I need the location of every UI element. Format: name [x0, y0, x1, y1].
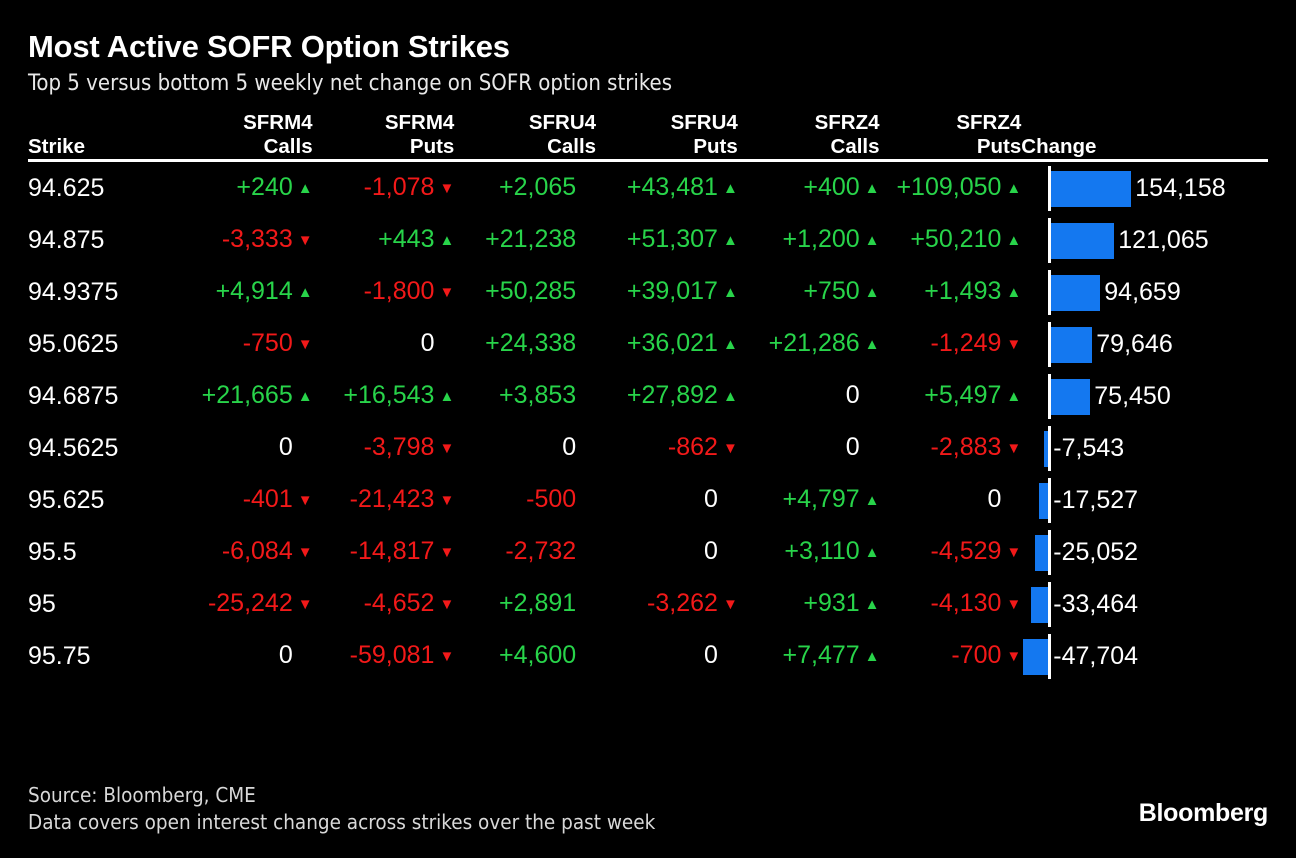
- column-header-line1: SFRZ4: [880, 111, 1022, 135]
- cell-sfru4-puts: 0▲: [596, 474, 738, 526]
- arrow-down-icon: ▼: [298, 579, 313, 630]
- cell-value: -2,732: [505, 537, 576, 565]
- cell-sfrm4-calls: 0▲: [171, 630, 313, 682]
- strike-value: 94.6875: [28, 370, 171, 422]
- cell-sfrz4-puts: +109,050▲: [880, 161, 1022, 215]
- arrow-up-icon: ▲: [865, 319, 880, 370]
- table-row: 95-25,242▼-4,652▼+2,891▲-3,262▼+931▲-4,1…: [28, 578, 1268, 630]
- cell-sfru4-puts: +36,021▲: [596, 318, 738, 370]
- cell-value: +240: [236, 173, 292, 201]
- cell-sfrz4-puts: -4,130▼: [880, 578, 1022, 630]
- cell-sfru4-calls: -500▲: [454, 474, 596, 526]
- arrow-down-icon: ▼: [439, 527, 454, 578]
- column-header-line1: SFRU4: [596, 111, 738, 135]
- cell-value: 0: [846, 381, 860, 409]
- cell-value: 0: [704, 641, 718, 669]
- column-header-line1: SFRM4: [171, 111, 313, 135]
- change-bar-cell: 94,659: [1021, 266, 1268, 318]
- cell-sfrm4-puts: -1,078▼: [313, 161, 455, 215]
- arrow-up-icon: ▲: [723, 319, 738, 370]
- arrow-up-icon: ▲: [865, 267, 880, 318]
- cell-value: -750: [243, 329, 293, 357]
- arrow-down-icon: ▼: [298, 475, 313, 526]
- cell-sfru4-calls: +2,891▲: [454, 578, 596, 630]
- cell-sfrm4-puts: +443▲: [313, 214, 455, 266]
- cell-value: 0: [704, 537, 718, 565]
- change-bar-cell: 75,450: [1021, 370, 1268, 422]
- table-header-row: StrikeSFRM4CallsSFRM4PutsSFRU4CallsSFRU4…: [28, 111, 1268, 159]
- arrow-down-icon: ▼: [439, 163, 454, 214]
- change-bar: [1044, 431, 1048, 467]
- cell-value: -700: [951, 641, 1001, 669]
- cell-value: -1,800: [364, 277, 435, 305]
- cell-sfrz4-puts: -1,249▼: [880, 318, 1022, 370]
- cell-sfrm4-calls: +21,665▲: [171, 370, 313, 422]
- change-bar: [1035, 535, 1048, 571]
- cell-sfrm4-calls: -3,333▼: [171, 214, 313, 266]
- change-value-label: -33,464: [1053, 579, 1138, 630]
- cell-value: -25,242: [208, 589, 293, 617]
- cell-value: -59,081: [350, 641, 435, 669]
- table-row: 94.6875+21,665▲+16,543▲+3,853▲+27,892▲0▲…: [28, 370, 1268, 422]
- cell-value: +443: [378, 225, 434, 253]
- strikes-table: StrikeSFRM4CallsSFRM4PutsSFRU4CallsSFRU4…: [28, 111, 1268, 682]
- cell-sfrm4-puts: 0▲: [313, 318, 455, 370]
- cell-sfru4-puts: +39,017▲: [596, 266, 738, 318]
- arrow-up-icon: ▲: [1006, 371, 1021, 422]
- table-header: StrikeSFRM4CallsSFRM4PutsSFRU4CallsSFRU4…: [28, 111, 1268, 161]
- change-bar-cell: -25,052: [1021, 526, 1268, 578]
- cell-value: -1,249: [931, 329, 1002, 357]
- cell-value: +43,481: [627, 173, 718, 201]
- arrow-down-icon: ▼: [723, 423, 738, 474]
- change-bar: [1051, 327, 1092, 363]
- arrow-down-icon: ▼: [439, 631, 454, 682]
- column-header-sfrm4-puts: SFRM4Puts: [313, 111, 455, 159]
- strike-value: 95.75: [28, 630, 171, 682]
- cell-value: -3,262: [647, 589, 718, 617]
- column-header-line2: Puts: [313, 135, 455, 159]
- cell-value: +50,285: [485, 277, 576, 305]
- table-row: 94.875-3,333▼+443▲+21,238▲+51,307▲+1,200…: [28, 214, 1268, 266]
- cell-value: +21,286: [769, 329, 860, 357]
- cell-sfru4-calls: +4,600▲: [454, 630, 596, 682]
- cell-sfrz4-calls: +4,797▲: [738, 474, 880, 526]
- header-block: Most Active SOFR Option Strikes Top 5 ve…: [0, 0, 1296, 97]
- column-header-line1: SFRZ4: [738, 111, 880, 135]
- change-value-label: 79,646: [1096, 319, 1172, 370]
- arrow-up-icon: ▲: [439, 371, 454, 422]
- column-header-sfrz4-calls: SFRZ4Calls: [738, 111, 880, 159]
- cell-sfrz4-puts: +5,497▲: [880, 370, 1022, 422]
- arrow-up-icon: ▲: [1006, 163, 1021, 214]
- change-value-label: -17,527: [1053, 475, 1138, 526]
- cell-value: +21,665: [202, 381, 293, 409]
- cell-value: -3,798: [364, 433, 435, 461]
- bar-wrapper: 75,450: [1021, 371, 1268, 422]
- cell-value: +51,307: [627, 225, 718, 253]
- change-value-label: 154,158: [1135, 163, 1225, 214]
- cell-value: -1,078: [364, 173, 435, 201]
- cell-value: 0: [846, 433, 860, 461]
- bar-wrapper: 94,659: [1021, 267, 1268, 318]
- change-bar: [1039, 483, 1048, 519]
- note-line: Data covers open interest change across …: [28, 809, 655, 836]
- cell-value: +1,493: [924, 277, 1001, 305]
- change-value-label: 121,065: [1118, 215, 1208, 266]
- cell-sfrz4-calls: +7,477▲: [738, 630, 880, 682]
- column-header-line2: Puts: [880, 135, 1022, 159]
- cell-sfrz4-puts: 0▲: [880, 474, 1022, 526]
- cell-sfru4-calls: +24,338▲: [454, 318, 596, 370]
- column-header-line2: Calls: [171, 135, 313, 159]
- change-bar: [1051, 275, 1100, 311]
- change-bar-cell: -17,527: [1021, 474, 1268, 526]
- cell-value: +24,338: [485, 329, 576, 357]
- arrow-up-icon: ▲: [865, 579, 880, 630]
- change-value-label: -25,052: [1053, 527, 1138, 578]
- zero-axis-line: [1048, 530, 1051, 575]
- cell-value: +3,110: [784, 537, 859, 565]
- cell-value: +750: [803, 277, 859, 305]
- change-bar-cell: 121,065: [1021, 214, 1268, 266]
- arrow-down-icon: ▼: [1006, 631, 1021, 682]
- change-bar-cell: -33,464: [1021, 578, 1268, 630]
- cell-sfru4-puts: -862▼: [596, 422, 738, 474]
- cell-sfrm4-puts: -3,798▼: [313, 422, 455, 474]
- column-header-line1: [28, 111, 171, 135]
- cell-sfrz4-puts: +1,493▲: [880, 266, 1022, 318]
- cell-sfrm4-calls: +240▲: [171, 161, 313, 215]
- change-value-label: -7,543: [1053, 423, 1124, 474]
- column-header-line2: Change: [1021, 135, 1268, 159]
- strike-value: 95.5: [28, 526, 171, 578]
- cell-value: -21,423: [350, 485, 435, 513]
- strike-value: 94.625: [28, 161, 171, 215]
- cell-sfrz4-calls: +3,110▲: [738, 526, 880, 578]
- cell-sfrz4-puts: -4,529▼: [880, 526, 1022, 578]
- cell-value: +3,853: [499, 381, 576, 409]
- column-header-line2: Strike: [28, 135, 171, 159]
- cell-sfrm4-calls: -401▼: [171, 474, 313, 526]
- arrow-down-icon: ▼: [1006, 423, 1021, 474]
- cell-value: +5,497: [924, 381, 1001, 409]
- arrow-up-icon: ▲: [865, 475, 880, 526]
- strike-value: 95.0625: [28, 318, 171, 370]
- bar-wrapper: 154,158: [1021, 163, 1268, 214]
- arrow-down-icon: ▼: [298, 215, 313, 266]
- cell-value: +2,065: [499, 173, 576, 201]
- strike-value: 95.625: [28, 474, 171, 526]
- source-line: Source: Bloomberg, CME: [28, 782, 655, 809]
- cell-sfru4-calls: 0▲: [454, 422, 596, 474]
- arrow-up-icon: ▲: [1006, 215, 1021, 266]
- cell-value: -6,084: [222, 537, 293, 565]
- cell-sfru4-calls: +2,065▲: [454, 161, 596, 215]
- cell-sfru4-calls: +50,285▲: [454, 266, 596, 318]
- cell-sfru4-calls: -2,732▲: [454, 526, 596, 578]
- arrow-up-icon: ▲: [723, 267, 738, 318]
- cell-sfru4-puts: +43,481▲: [596, 161, 738, 215]
- cell-value: -4,130: [931, 589, 1002, 617]
- arrow-down-icon: ▼: [1006, 527, 1021, 578]
- cell-value: 0: [279, 433, 293, 461]
- cell-value: +1,200: [783, 225, 860, 253]
- cell-value: 0: [704, 485, 718, 513]
- change-value-label: 75,450: [1094, 371, 1170, 422]
- arrow-down-icon: ▼: [1006, 579, 1021, 630]
- arrow-up-icon: ▲: [865, 631, 880, 682]
- cell-sfrm4-puts: -59,081▼: [313, 630, 455, 682]
- change-bar-cell: 79,646: [1021, 318, 1268, 370]
- bar-wrapper: 121,065: [1021, 215, 1268, 266]
- cell-value: 0: [988, 485, 1002, 513]
- arrow-up-icon: ▲: [865, 215, 880, 266]
- cell-value: -4,529: [931, 537, 1002, 565]
- arrow-up-icon: ▲: [439, 215, 454, 266]
- bar-wrapper: -47,704: [1021, 631, 1268, 682]
- zero-axis-line: [1048, 426, 1051, 471]
- bar-wrapper: 79,646: [1021, 319, 1268, 370]
- column-header-strike: Strike: [28, 111, 171, 159]
- bloomberg-logo: Bloomberg: [1139, 799, 1268, 828]
- table-row: 95.0625-750▼0▲+24,338▲+36,021▲+21,286▲-1…: [28, 318, 1268, 370]
- cell-sfru4-calls: +21,238▲: [454, 214, 596, 266]
- page-title: Most Active SOFR Option Strikes: [28, 30, 1296, 65]
- column-header-line1: SFRU4: [454, 111, 596, 135]
- column-header-change: Change: [1021, 111, 1268, 159]
- column-header-line2: Calls: [738, 135, 880, 159]
- change-bar: [1051, 171, 1131, 207]
- arrow-up-icon: ▲: [1006, 267, 1021, 318]
- cell-sfru4-calls: +3,853▲: [454, 370, 596, 422]
- cell-value: -500: [526, 485, 576, 513]
- cell-value: +109,050: [896, 173, 1001, 201]
- cell-sfrz4-calls: 0▲: [738, 422, 880, 474]
- cell-sfrz4-calls: +21,286▲: [738, 318, 880, 370]
- arrow-down-icon: ▼: [1006, 319, 1021, 370]
- change-value-label: -47,704: [1053, 631, 1138, 682]
- table-body: 94.625+240▲-1,078▼+2,065▲+43,481▲+400▲+1…: [28, 161, 1268, 683]
- cell-value: +50,210: [910, 225, 1001, 253]
- strike-value: 95: [28, 578, 171, 630]
- table-row: 95.625-401▼-21,423▼-500▲0▲+4,797▲0▲-17,5…: [28, 474, 1268, 526]
- cell-sfrm4-calls: +4,914▲: [171, 266, 313, 318]
- cell-sfrz4-calls: +400▲: [738, 161, 880, 215]
- cell-sfrz4-puts: +50,210▲: [880, 214, 1022, 266]
- cell-sfrm4-calls: -750▼: [171, 318, 313, 370]
- zero-axis-line: [1048, 582, 1051, 627]
- arrow-up-icon: ▲: [865, 527, 880, 578]
- change-bar-cell: -47,704: [1021, 630, 1268, 682]
- cell-value: +931: [803, 589, 859, 617]
- change-bar-cell: 154,158: [1021, 161, 1268, 215]
- strike-value: 94.5625: [28, 422, 171, 474]
- cell-sfrm4-calls: -6,084▼: [171, 526, 313, 578]
- cell-sfrm4-calls: -25,242▼: [171, 578, 313, 630]
- cell-value: -2,883: [931, 433, 1002, 461]
- bar-wrapper: -17,527: [1021, 475, 1268, 526]
- cell-value: +21,238: [485, 225, 576, 253]
- strike-value: 94.9375: [28, 266, 171, 318]
- arrow-down-icon: ▼: [439, 579, 454, 630]
- arrow-up-icon: ▲: [298, 371, 313, 422]
- arrow-up-icon: ▲: [723, 163, 738, 214]
- cell-value: +16,543: [343, 381, 434, 409]
- cell-value: +39,017: [627, 277, 718, 305]
- cell-sfru4-puts: -3,262▼: [596, 578, 738, 630]
- change-bar: [1031, 587, 1048, 623]
- table-row: 94.56250▲-3,798▼0▲-862▼0▲-2,883▼-7,543: [28, 422, 1268, 474]
- arrow-down-icon: ▼: [298, 319, 313, 370]
- column-header-sfrm4-calls: SFRM4Calls: [171, 111, 313, 159]
- arrow-down-icon: ▼: [723, 579, 738, 630]
- cell-value: +2,891: [499, 589, 576, 617]
- change-bar: [1051, 223, 1114, 259]
- cell-sfru4-puts: +51,307▲: [596, 214, 738, 266]
- table-row: 94.625+240▲-1,078▼+2,065▲+43,481▲+400▲+1…: [28, 161, 1268, 215]
- cell-sfru4-puts: +27,892▲: [596, 370, 738, 422]
- column-header-line1: [1021, 111, 1268, 135]
- arrow-up-icon: ▲: [298, 163, 313, 214]
- cell-sfrz4-calls: +750▲: [738, 266, 880, 318]
- strike-value: 94.875: [28, 214, 171, 266]
- cell-sfrm4-puts: -14,817▼: [313, 526, 455, 578]
- cell-sfrm4-calls: 0▲: [171, 422, 313, 474]
- zero-axis-line: [1048, 478, 1051, 523]
- cell-sfrz4-puts: -700▼: [880, 630, 1022, 682]
- change-bar: [1023, 639, 1048, 675]
- change-value-label: 94,659: [1104, 267, 1180, 318]
- arrow-down-icon: ▼: [439, 475, 454, 526]
- bar-wrapper: -33,464: [1021, 579, 1268, 630]
- table-row: 94.9375+4,914▲-1,800▼+50,285▲+39,017▲+75…: [28, 266, 1268, 318]
- arrow-up-icon: ▲: [723, 371, 738, 422]
- column-header-line2: Calls: [454, 135, 596, 159]
- footnote-block: Source: Bloomberg, CME Data covers open …: [28, 782, 655, 836]
- cell-value: +400: [803, 173, 859, 201]
- cell-value: -401: [243, 485, 293, 513]
- cell-value: +4,600: [499, 641, 576, 669]
- change-bar: [1051, 379, 1090, 415]
- cell-value: +7,477: [783, 641, 860, 669]
- change-bar-cell: -7,543: [1021, 422, 1268, 474]
- table-row: 95.750▲-59,081▼+4,600▲0▲+7,477▲-700▼-47,…: [28, 630, 1268, 682]
- arrow-up-icon: ▲: [298, 267, 313, 318]
- bar-wrapper: -7,543: [1021, 423, 1268, 474]
- cell-sfrz4-calls: +1,200▲: [738, 214, 880, 266]
- cell-value: 0: [562, 433, 576, 461]
- arrow-down-icon: ▼: [439, 267, 454, 318]
- cell-value: +4,914: [216, 277, 293, 305]
- cell-sfru4-puts: 0▲: [596, 526, 738, 578]
- cell-value: +4,797: [783, 485, 860, 513]
- cell-value: -14,817: [350, 537, 435, 565]
- cell-value: -4,652: [364, 589, 435, 617]
- column-header-line2: Puts: [596, 135, 738, 159]
- cell-value: -862: [668, 433, 718, 461]
- cell-sfrm4-puts: -21,423▼: [313, 474, 455, 526]
- column-header-sfru4-puts: SFRU4Puts: [596, 111, 738, 159]
- page-subtitle: Top 5 versus bottom 5 weekly net change …: [28, 71, 1296, 97]
- column-header-line1: SFRM4: [313, 111, 455, 135]
- cell-value: +27,892: [627, 381, 718, 409]
- column-header-sfru4-calls: SFRU4Calls: [454, 111, 596, 159]
- arrow-up-icon: ▲: [723, 215, 738, 266]
- cell-value: 0: [279, 641, 293, 669]
- arrow-down-icon: ▼: [298, 527, 313, 578]
- column-header-sfrz4-puts: SFRZ4Puts: [880, 111, 1022, 159]
- table-row: 95.5-6,084▼-14,817▼-2,732▲0▲+3,110▲-4,52…: [28, 526, 1268, 578]
- cell-sfrz4-puts: -2,883▼: [880, 422, 1022, 474]
- cell-sfrz4-calls: 0▲: [738, 370, 880, 422]
- cell-sfru4-puts: 0▲: [596, 630, 738, 682]
- cell-value: 0: [421, 329, 435, 357]
- cell-sfrm4-puts: -1,800▼: [313, 266, 455, 318]
- cell-value: -3,333: [222, 225, 293, 253]
- arrow-down-icon: ▼: [439, 423, 454, 474]
- zero-axis-line: [1048, 634, 1051, 679]
- cell-sfrm4-puts: +16,543▲: [313, 370, 455, 422]
- chart-page: Most Active SOFR Option Strikes Top 5 ve…: [0, 0, 1296, 858]
- cell-sfrz4-calls: +931▲: [738, 578, 880, 630]
- cell-sfrm4-puts: -4,652▼: [313, 578, 455, 630]
- cell-value: +36,021: [627, 329, 718, 357]
- bar-wrapper: -25,052: [1021, 527, 1268, 578]
- arrow-up-icon: ▲: [865, 163, 880, 214]
